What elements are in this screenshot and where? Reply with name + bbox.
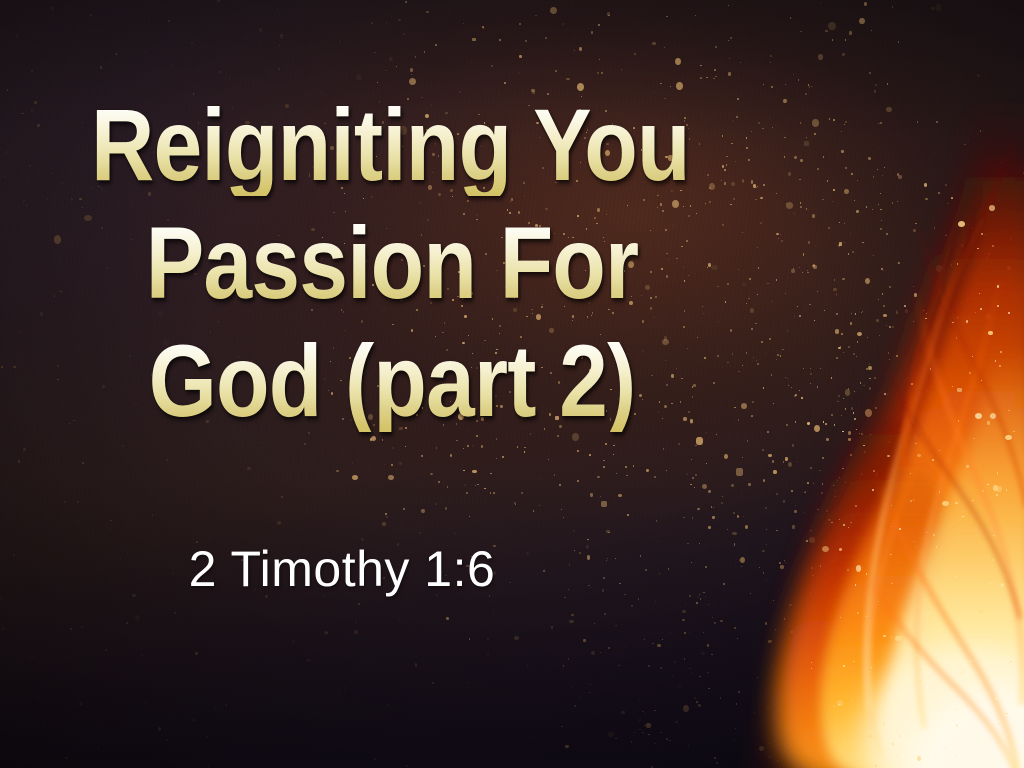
title-line-2: Passion For	[91, 214, 693, 314]
title-line-3: God (part 2)	[91, 332, 693, 432]
title-line-1: Reigniting Your	[91, 96, 693, 196]
slide-title: Reigniting Your Passion For God (part 2)	[42, 96, 742, 432]
presentation-slide: Reigniting Your Passion For God (part 2)…	[0, 0, 1024, 768]
scripture-reference: 2 Timothy 1:6	[42, 543, 642, 596]
